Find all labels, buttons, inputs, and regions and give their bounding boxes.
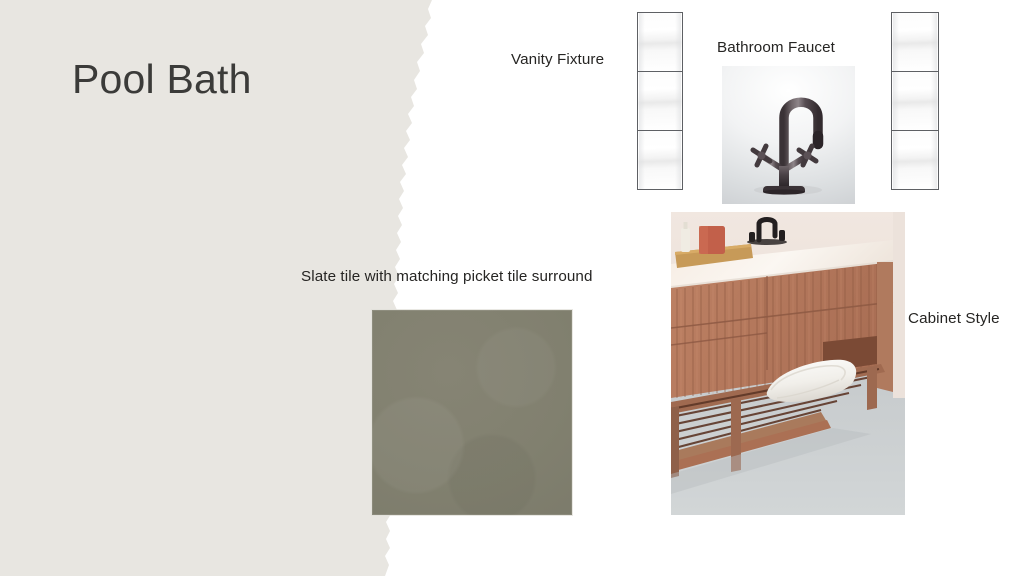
fixture-shade-top — [637, 12, 683, 71]
caption-bathroom-faucet: Bathroom Faucet — [717, 39, 835, 56]
faucet-cross-handle-left — [753, 146, 770, 165]
fixture-shade-bottom — [891, 130, 939, 190]
caption-vanity-fixture: Vanity Fixture — [511, 51, 604, 68]
faucet-body — [779, 166, 789, 186]
fixture-shade-bottom — [637, 130, 683, 190]
cabinet-leg-far-left — [671, 406, 679, 478]
cabinet-style-photo[interactable] — [671, 212, 905, 515]
bathroom-faucet-photo[interactable] — [722, 66, 855, 204]
slate-tile-swatch[interactable] — [372, 310, 572, 515]
cabinet-bottle — [681, 228, 690, 252]
page-title: Pool Bath — [72, 57, 252, 103]
fixture-shade-top — [891, 12, 939, 71]
fixture-shade-middle — [637, 71, 683, 130]
caption-cabinet-style: Cabinet Style — [908, 310, 1000, 327]
fixture-shade-middle — [891, 71, 939, 130]
cabinet-leg-right — [867, 366, 877, 410]
vanity-fixture-photo-left[interactable] — [637, 12, 683, 190]
cabinet-wall-right — [893, 212, 905, 398]
vanity-fixture-photo-right[interactable] — [891, 12, 939, 190]
caption-slate-tile: Slate tile with matching picket tile sur… — [301, 268, 593, 285]
